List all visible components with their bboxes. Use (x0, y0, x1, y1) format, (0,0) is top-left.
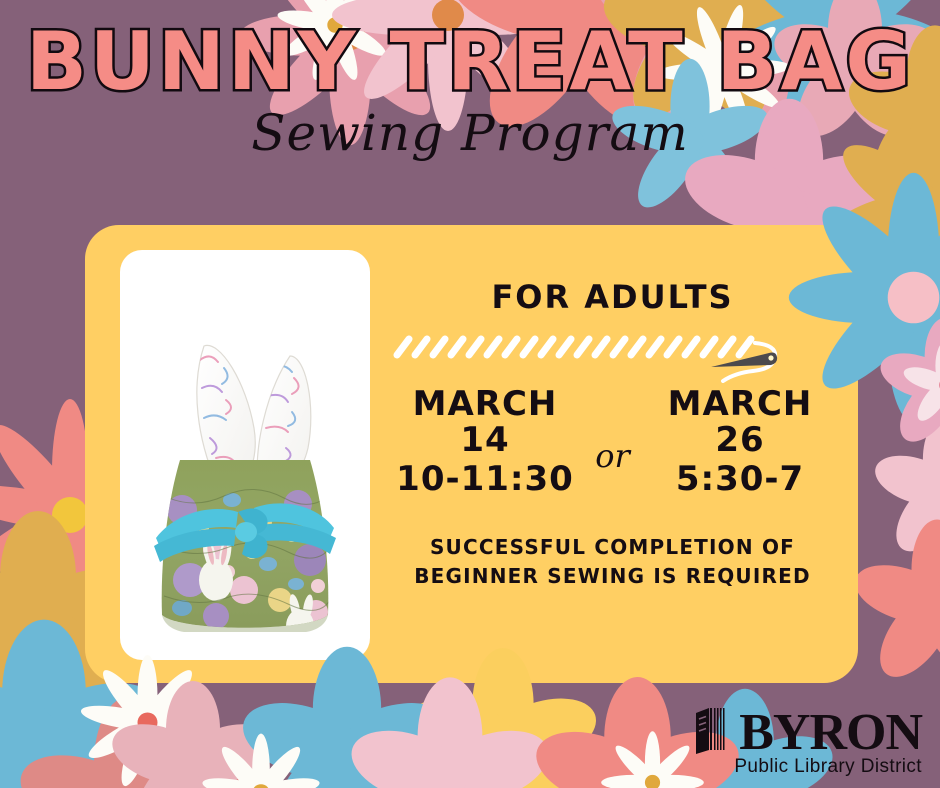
session-2-date: MARCH 26 (648, 387, 833, 458)
audience-label: FOR ADULTS (385, 281, 840, 313)
page-subtitle: Sewing Program (0, 108, 940, 158)
page-title: BUNNY TREAT BAG (0, 22, 940, 102)
card-content: FOR ADULTS (385, 243, 840, 665)
prerequisite-note: SUCCESSFUL COMPLETION OF BEGINNER SEWING… (385, 533, 840, 591)
session-2-time: 5:30-7 (648, 460, 833, 499)
logo-name: BYRON (739, 711, 922, 755)
title-block: BUNNY TREAT BAG Sewing Program (0, 22, 940, 158)
or-separator: or (578, 411, 648, 475)
info-card: FOR ADULTS (85, 225, 858, 683)
poster-canvas: BUNNY TREAT BAG Sewing Program (0, 0, 940, 788)
library-logo: BYRON Public Library District (693, 705, 922, 778)
sessions-row: MARCH 14 10-11:30 or MARCH 26 5:30-7 (385, 387, 840, 499)
flower-white-daisy-bottom-2 (605, 735, 700, 788)
session-2: MARCH 26 5:30-7 (648, 387, 833, 499)
note-line-2: BEGINNER SEWING IS REQUIRED (385, 562, 840, 591)
note-line-1: SUCCESSFUL COMPLETION OF (385, 533, 840, 562)
product-photo-frame (120, 250, 370, 660)
needle-and-thread-icon (393, 329, 793, 383)
flower-lightpink-bottom-2 (360, 690, 540, 788)
session-1: MARCH 14 10-11:30 (393, 387, 578, 499)
treat-bag-photo (120, 260, 370, 660)
logo-lockup: BYRON (693, 705, 922, 755)
flower-salmon-right (862, 530, 940, 680)
logo-tagline: Public Library District (693, 757, 922, 778)
flower-white-daisy-bottom (206, 738, 316, 788)
session-1-time: 10-11:30 (393, 460, 578, 499)
flower-pink-right-detail (885, 325, 940, 445)
stitch-divider (385, 329, 840, 383)
session-1-date: MARCH 14 (393, 387, 578, 458)
